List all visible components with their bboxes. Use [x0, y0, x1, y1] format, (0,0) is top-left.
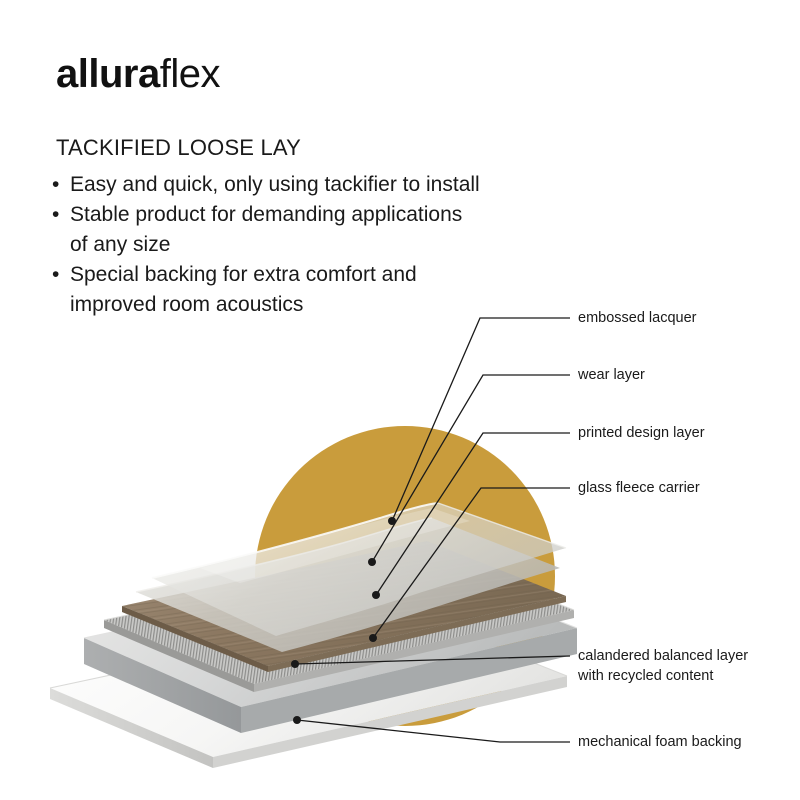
callout-label-calandered-balanced-layer: calandered balanced layer with recycled …: [578, 646, 748, 686]
callout-text-line-1: printed design layer: [578, 425, 705, 441]
callout-label-wear-layer: wear layer: [578, 365, 645, 385]
callout-text-line-1: glass fleece carrier: [578, 480, 700, 496]
callout-text-line-1: embossed lacquer: [578, 310, 697, 326]
callout-text-line-1: mechanical foam backing: [578, 734, 742, 750]
anchor-dot-glass-fleece-carrier: [369, 634, 377, 642]
callout-label-printed-design-layer: printed design layer: [578, 423, 705, 443]
callout-label-glass-fleece-carrier: glass fleece carrier: [578, 478, 700, 498]
anchor-dot-wear-layer: [368, 558, 376, 566]
poster-canvas: alluraflex TACKIFIED LOOSE LAY • Easy an…: [0, 0, 800, 800]
callout-label-embossed-lacquer: embossed lacquer: [578, 308, 697, 328]
callout-text-line-1: wear layer: [578, 367, 645, 383]
callout-text-line-1: calandered balanced layer: [578, 648, 748, 664]
anchor-dot-embossed-lacquer: [388, 517, 396, 525]
anchor-dot-printed-design-layer: [372, 591, 380, 599]
anchor-dot-mechanical-foam-backing: [293, 716, 301, 724]
callout-label-mechanical-foam-backing: mechanical foam backing: [578, 732, 742, 752]
anchor-dot-calandered-balanced-layer: [291, 660, 299, 668]
callout-text-line-2: with recycled content: [578, 666, 748, 686]
